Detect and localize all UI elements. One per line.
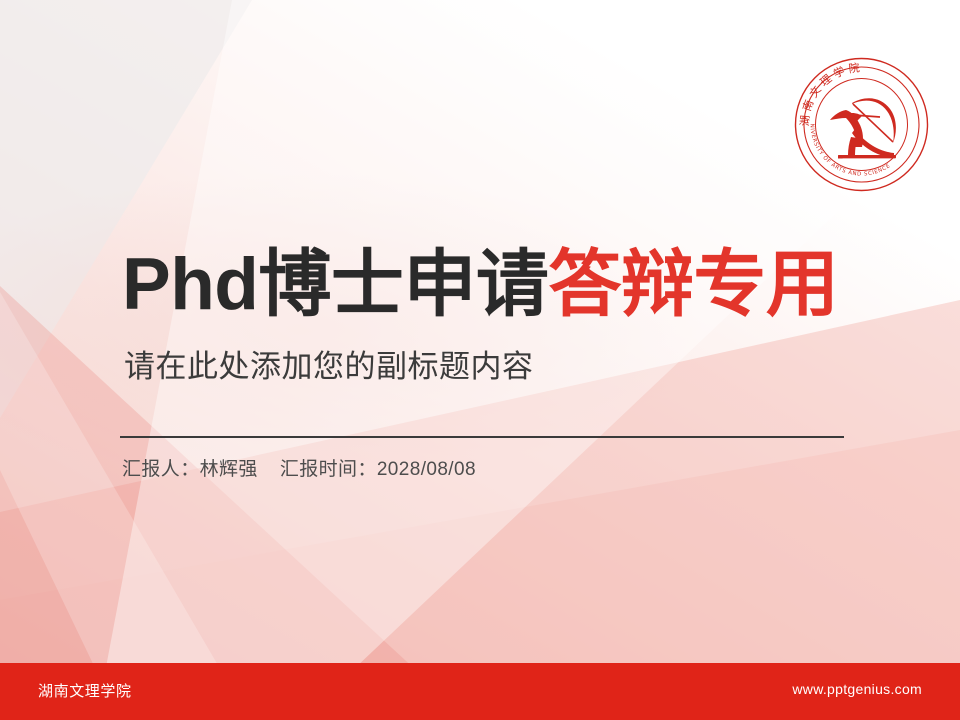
slide-title: Phd博士申请答辩专用: [122, 248, 838, 321]
presenter-label: 汇报人：: [122, 459, 200, 480]
presenter-byline: 汇报人：林辉强汇报时间：2028/08/08: [122, 454, 476, 481]
footer-bar: 湖南文理学院 www.pptgenius.com: [0, 663, 960, 720]
slide-subtitle: 请在此处添加您的副标题内容: [124, 341, 534, 386]
date-value: 2028/08/08: [377, 459, 476, 480]
date-label: 汇报时间：: [280, 459, 377, 480]
footer-institution-name: 湖南文理学院: [38, 680, 132, 701]
divider-line: [120, 436, 844, 438]
title-text-primary: Phd博士申请: [122, 244, 548, 325]
title-text-accent: 答辩专用: [548, 244, 838, 325]
university-logo: 湖 南 文 理 学 院 HUNAN UNIVERSITY OF ARTS AND…: [794, 57, 929, 192]
footer-website-link[interactable]: www.pptgenius.com: [792, 681, 922, 697]
presenter-name: 林辉强: [200, 459, 258, 480]
presentation-slide: 湖 南 文 理 学 院 HUNAN UNIVERSITY OF ARTS AND…: [0, 0, 960, 720]
